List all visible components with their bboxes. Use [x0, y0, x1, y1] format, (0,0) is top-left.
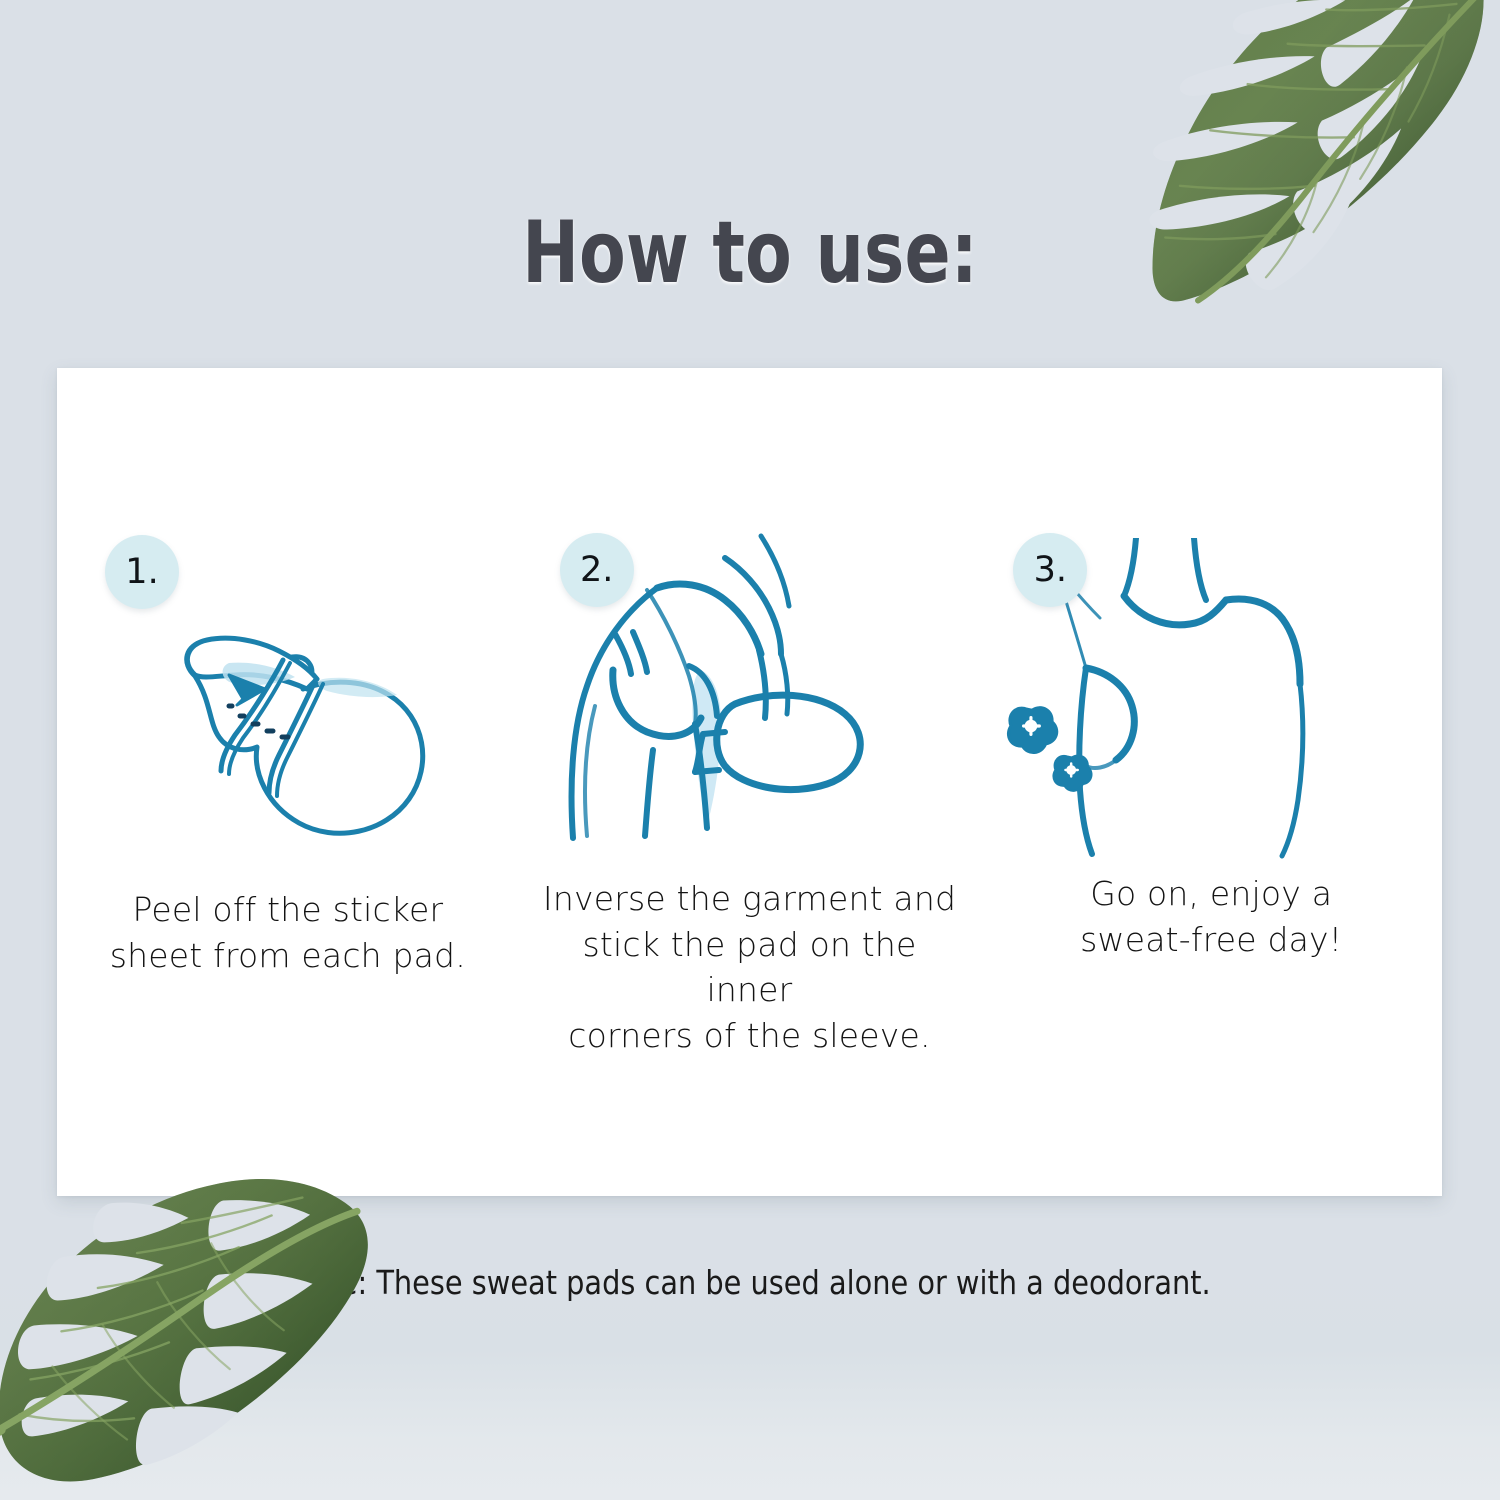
step-number-badge-1: 1. [105, 535, 179, 609]
monstera-leaf-bottom-left [0, 1150, 420, 1500]
step-number-label-2: 2. [580, 550, 613, 590]
step-number-label-1: 1. [125, 552, 158, 592]
footer-note: Note: These sweat pads can be used alone… [23, 1263, 1478, 1302]
steps-card: 1. [57, 368, 1442, 1196]
steps-row: 1. [57, 368, 1442, 1196]
infographic-canvas: How to use: 1. [0, 0, 1500, 1500]
step-number-label-3: 3. [1034, 550, 1067, 590]
page-title: How to use: [90, 210, 1410, 296]
monstera-leaf-top-right [1060, 0, 1500, 375]
step-item-1: 1. [57, 368, 519, 1196]
step-item-3: 3. [980, 368, 1442, 1196]
step-caption-1: Peel off the sticker sheet from each pad… [57, 887, 519, 978]
step-item-2: 2. [519, 368, 981, 1196]
step-number-badge-2: 2. [560, 533, 634, 607]
step-caption-2: Inverse the garment and stick the pad on… [519, 876, 981, 1058]
step-number-badge-3: 3. [1013, 533, 1087, 607]
sweat-pad-peel-sticker-icon [77, 583, 477, 858]
step-caption-3: Go on, enjoy a sweat-free day! [980, 871, 1442, 962]
